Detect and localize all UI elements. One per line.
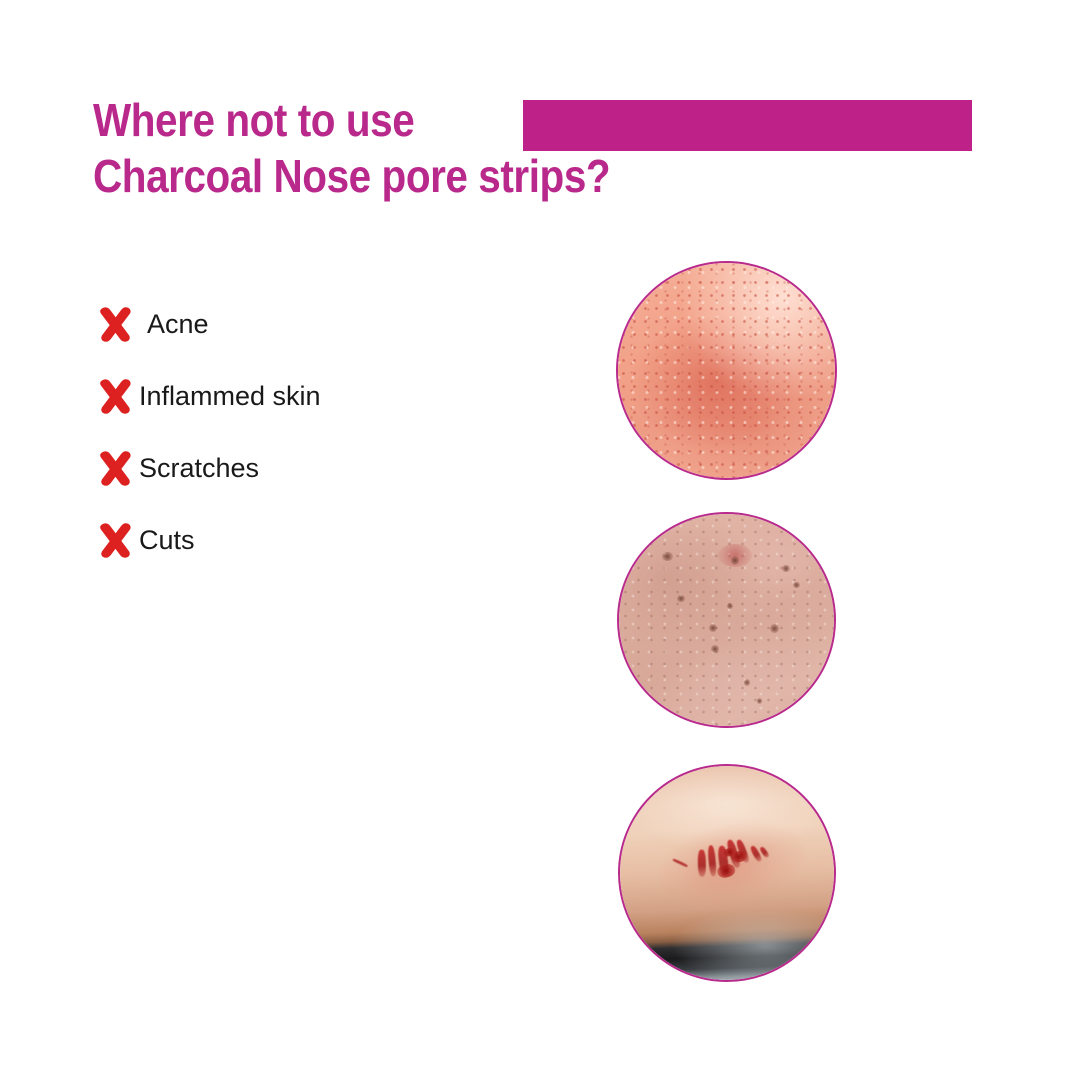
- blemish-spot: [770, 624, 779, 633]
- photo-scratch-wound: [618, 764, 836, 982]
- photo-acne-skin: [617, 512, 836, 728]
- page-title-line-1: Where not to use: [93, 92, 709, 148]
- infographic-canvas: Where not to use Charcoal Nose pore stri…: [0, 0, 1080, 1080]
- page-title-line-2: Charcoal Nose pore strips?: [93, 148, 709, 204]
- avoid-list: Acne Inflammed skin: [96, 299, 526, 587]
- blemish-spot: [757, 698, 763, 704]
- blemish-spot: [662, 552, 673, 560]
- red-cross-x-icon: [96, 521, 134, 559]
- red-cross-x-icon: [96, 305, 134, 343]
- blemish-spot: [677, 595, 685, 603]
- blemish-spot: [793, 582, 799, 588]
- page-title: Where not to use Charcoal Nose pore stri…: [93, 92, 793, 204]
- list-item: Inflammed skin: [96, 371, 526, 421]
- list-item-label: Scratches: [134, 455, 259, 482]
- blemish-spot: [782, 565, 789, 572]
- list-item-label: Acne: [134, 311, 209, 338]
- photo-inflamed-skin: [616, 261, 837, 480]
- skin-texture-layer: [618, 263, 835, 478]
- blemish-spot: [711, 645, 718, 652]
- photo-inflamed-skin-image: [618, 263, 835, 478]
- list-item: Acne: [96, 299, 526, 349]
- list-item-label: Inflammed skin: [134, 383, 321, 410]
- photo-scratch-wound-image: [620, 766, 834, 980]
- photo-acne-skin-image: [619, 514, 834, 726]
- scratch-streak: [698, 849, 707, 876]
- blemish-spot: [709, 624, 717, 632]
- red-cross-x-icon: [96, 449, 134, 487]
- list-item: Cuts: [96, 515, 526, 565]
- list-item-label: Cuts: [134, 527, 195, 554]
- red-cross-x-icon: [96, 377, 134, 415]
- blemish-spot: [744, 679, 750, 685]
- list-item: Scratches: [96, 443, 526, 493]
